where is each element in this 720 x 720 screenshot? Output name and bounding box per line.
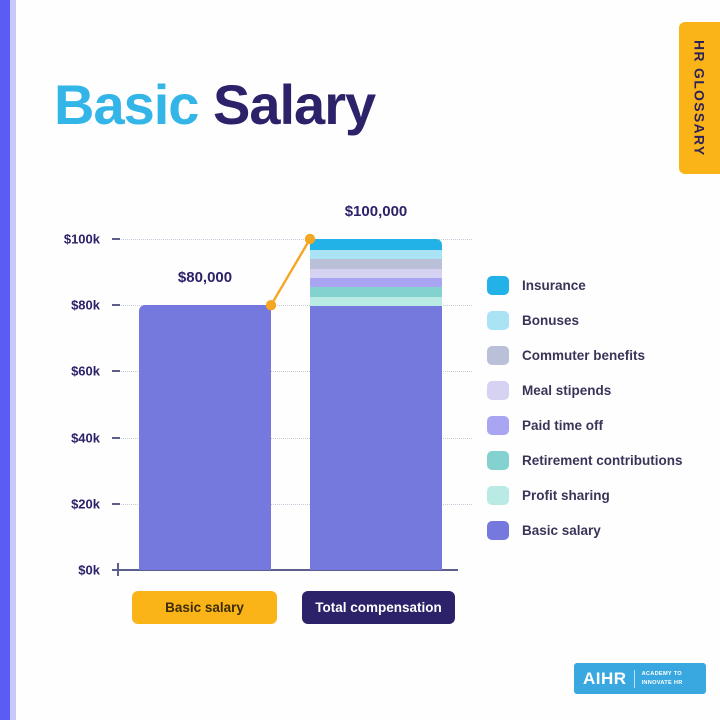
legend-item-paid-time-off[interactable]: Paid time off: [487, 408, 717, 443]
category-button-basic-salary[interactable]: Basic salary: [132, 591, 277, 624]
y-axis-tick: [112, 238, 120, 240]
infographic-canvas: HR GLOSSARY Basic Salary $100k$80k$60k$4…: [0, 0, 720, 720]
category-button-total-compensation[interactable]: Total compensation: [302, 591, 455, 624]
legend-swatch-icon: [487, 346, 509, 365]
y-axis-label: $100k: [64, 232, 100, 247]
legend-swatch-icon: [487, 311, 509, 330]
bar-value-label: $100,000: [345, 203, 408, 220]
category-button-total-compensation-label: Total compensation: [315, 600, 442, 615]
legend-item-label: Retirement contributions: [522, 453, 683, 468]
bar-segment-bonuses: [310, 250, 442, 260]
chart-legend: InsuranceBonusesCommuter benefitsMeal st…: [487, 268, 717, 548]
legend-item-label: Basic salary: [522, 523, 601, 538]
bar-segment-meal-stipends: [310, 268, 442, 278]
legend-item-label: Insurance: [522, 278, 586, 293]
legend-item-label: Bonuses: [522, 313, 579, 328]
legend-swatch-icon: [487, 486, 509, 505]
legend-item-bonuses[interactable]: Bonuses: [487, 303, 717, 338]
bar-value-label: $80,000: [178, 269, 232, 286]
bar-basic-salary[interactable]: [139, 305, 271, 570]
legend-item-label: Meal stipends: [522, 383, 611, 398]
bar-segment-insurance: [310, 239, 442, 250]
legend-swatch-icon: [487, 381, 509, 400]
y-axis-tick: [112, 437, 120, 439]
category-button-basic-salary-label: Basic salary: [165, 600, 244, 615]
aihr-logo-tagline: ACADEMY TO INNOVATE HR: [642, 670, 683, 687]
legend-swatch-icon: [487, 451, 509, 470]
aihr-logo-tagline-line2: INNOVATE HR: [642, 679, 683, 687]
legend-swatch-icon: [487, 276, 509, 295]
legend-item-label: Profit sharing: [522, 488, 610, 503]
y-axis-tick: [112, 370, 120, 372]
legend-item-commuter-benefits[interactable]: Commuter benefits: [487, 338, 717, 373]
legend-item-profit-sharing[interactable]: Profit sharing: [487, 478, 717, 513]
bar-segment-paid-time-off: [310, 277, 442, 287]
y-axis-label: $20k: [71, 496, 100, 511]
legend-item-label: Commuter benefits: [522, 348, 645, 363]
legend-swatch-icon: [487, 416, 509, 435]
legend-item-basic-salary[interactable]: Basic salary: [487, 513, 717, 548]
aihr-logo-tagline-line1: ACADEMY TO: [642, 670, 683, 678]
bar-total-compensation[interactable]: [310, 239, 442, 570]
y-axis-label: $60k: [71, 364, 100, 379]
y-axis-tick: [112, 304, 120, 306]
bar-segment-basic-salary: [139, 305, 271, 570]
aihr-logo-wordmark: AIHR: [574, 669, 627, 689]
y-axis-label: $40k: [71, 430, 100, 445]
y-axis-label: $80k: [71, 298, 100, 313]
bar-segment-profit-sharing: [310, 296, 442, 306]
legend-item-insurance[interactable]: Insurance: [487, 268, 717, 303]
aihr-logo-divider: [634, 670, 635, 688]
bar-segment-basic-salary: [310, 305, 442, 570]
y-axis-label: $0k: [78, 563, 100, 578]
x-axis-origin-cap: [117, 563, 119, 576]
legend-item-meal-stipends[interactable]: Meal stipends: [487, 373, 717, 408]
bar-segment-commuter-benefits: [310, 259, 442, 269]
bar-segment-retirement-contributions: [310, 287, 442, 297]
aihr-logo: AIHR ACADEMY TO INNOVATE HR: [574, 663, 706, 694]
legend-swatch-icon: [487, 521, 509, 540]
y-axis-tick: [112, 503, 120, 505]
legend-item-label: Paid time off: [522, 418, 603, 433]
legend-item-retirement-contributions[interactable]: Retirement contributions: [487, 443, 717, 478]
